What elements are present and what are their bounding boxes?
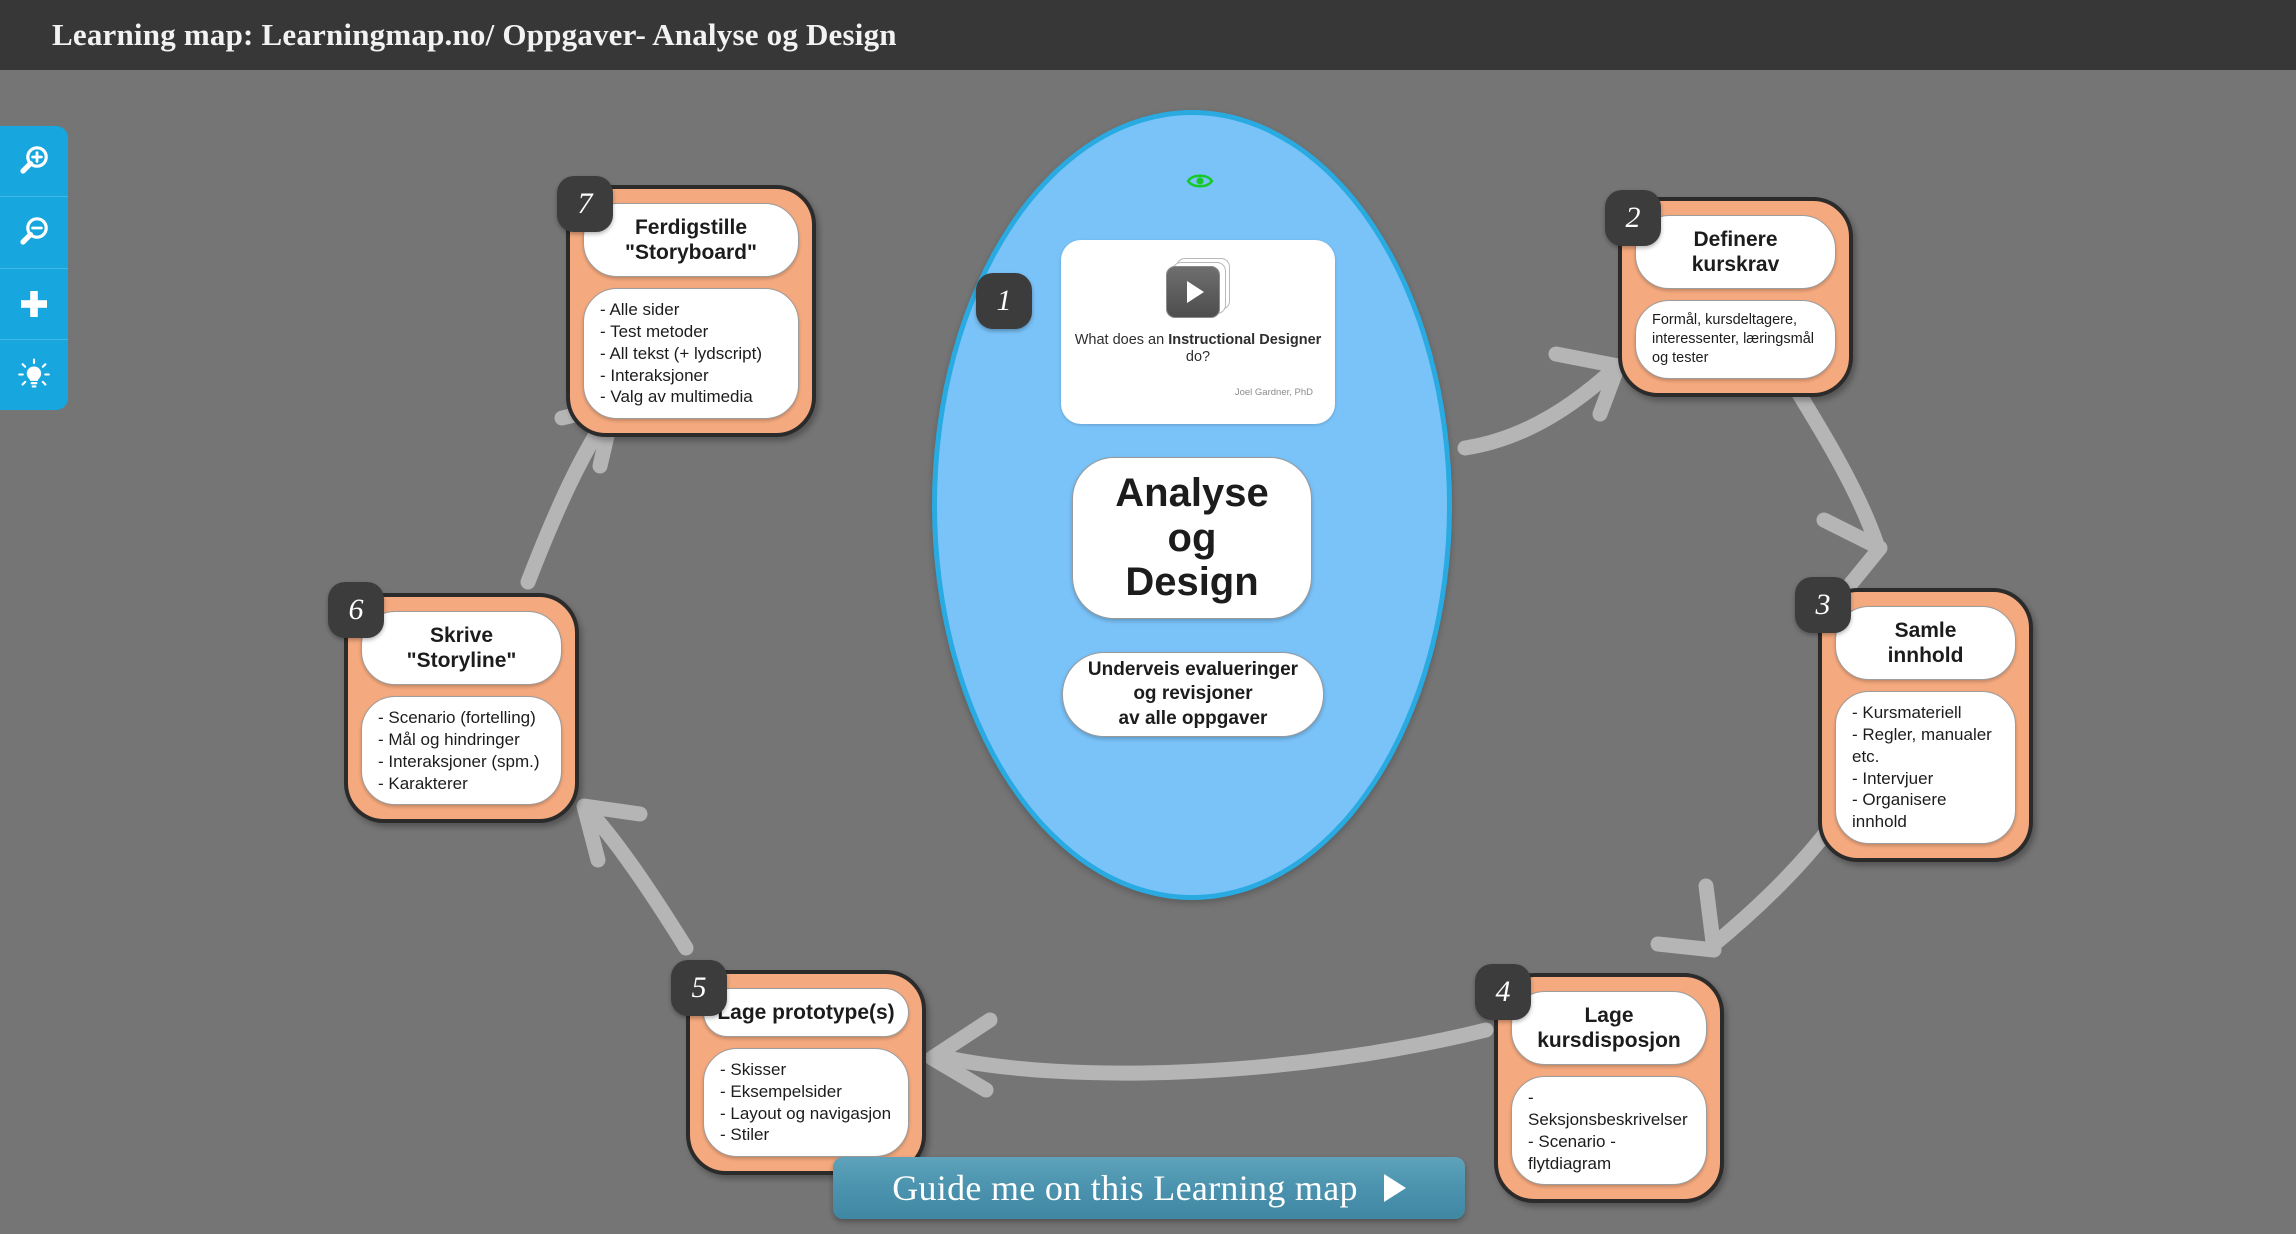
step-node-3-details: - Kursmateriell - Regler, manualer etc. … (1835, 691, 2016, 844)
step-badge-6: 6 (328, 582, 384, 638)
center-subtitle: Underveis evalueringer og revisjoner av … (1062, 652, 1324, 737)
step-node-5-title: Lage prototype(s) (703, 988, 909, 1037)
step-node-5-details: - Skisser - Eksempelsider - Layout og na… (703, 1048, 909, 1157)
diagram-area: 1 What does an Instructional Designer do… (0, 70, 2296, 1234)
step-badge-7: 7 (557, 176, 613, 232)
guide-me-label: Guide me on this Learning map (892, 1167, 1358, 1209)
intro-video-card[interactable]: What does an Instructional Designer do? … (1061, 240, 1335, 424)
step-node-2-title: Definere kurskrav (1635, 215, 1836, 289)
step-badge-1: 1 (976, 273, 1032, 329)
step-node-4-title: Lage kursdisposjon (1511, 991, 1707, 1065)
learning-map-canvas: Learning map: Learningmap.no/ Oppgaver- … (0, 0, 2296, 1234)
step-node-7-details: - Alle sider - Test metoder - All tekst … (583, 288, 799, 419)
video-caption-suffix: do? (1186, 349, 1210, 365)
play-icon (1166, 258, 1230, 320)
video-author: Joel Gardner, PhD (1235, 387, 1313, 398)
page-title: Learning map: Learningmap.no/ Oppgaver- … (52, 17, 897, 53)
step-node-6-title: Skrive "Storyline" (361, 611, 562, 685)
step-badge-4: 4 (1475, 964, 1531, 1020)
guide-me-button[interactable]: Guide me on this Learning map (833, 1157, 1465, 1219)
center-title: Analyse og Design (1072, 457, 1312, 619)
eye-icon[interactable] (1186, 171, 1214, 191)
step-badge-5: 5 (671, 960, 727, 1016)
video-caption-bold: Instructional Designer (1168, 332, 1321, 348)
step-node-4-details: - Seksjonsbeskrivelser - Scenario - flyt… (1511, 1076, 1707, 1185)
video-caption: What does an Instructional Designer do? (1061, 332, 1335, 367)
step-node-3[interactable]: Samle innhold - Kursmateriell - Regler, … (1818, 588, 2033, 862)
step-node-3-title: Samle innhold (1835, 606, 2016, 680)
step-badge-2: 2 (1605, 190, 1661, 246)
play-triangle-icon (1384, 1174, 1406, 1202)
step-badge-3: 3 (1795, 577, 1851, 633)
step-node-6-details: - Scenario (fortelling) - Mål og hindrin… (361, 696, 562, 805)
step-node-2-details: Formål, kursdeltagere, interessenter, læ… (1635, 300, 1836, 379)
app-header: Learning map: Learningmap.no/ Oppgaver- … (0, 0, 2296, 70)
video-caption-prefix: What does an (1075, 332, 1169, 348)
step-node-7-title: Ferdigstille "Storyboard" (583, 203, 799, 277)
